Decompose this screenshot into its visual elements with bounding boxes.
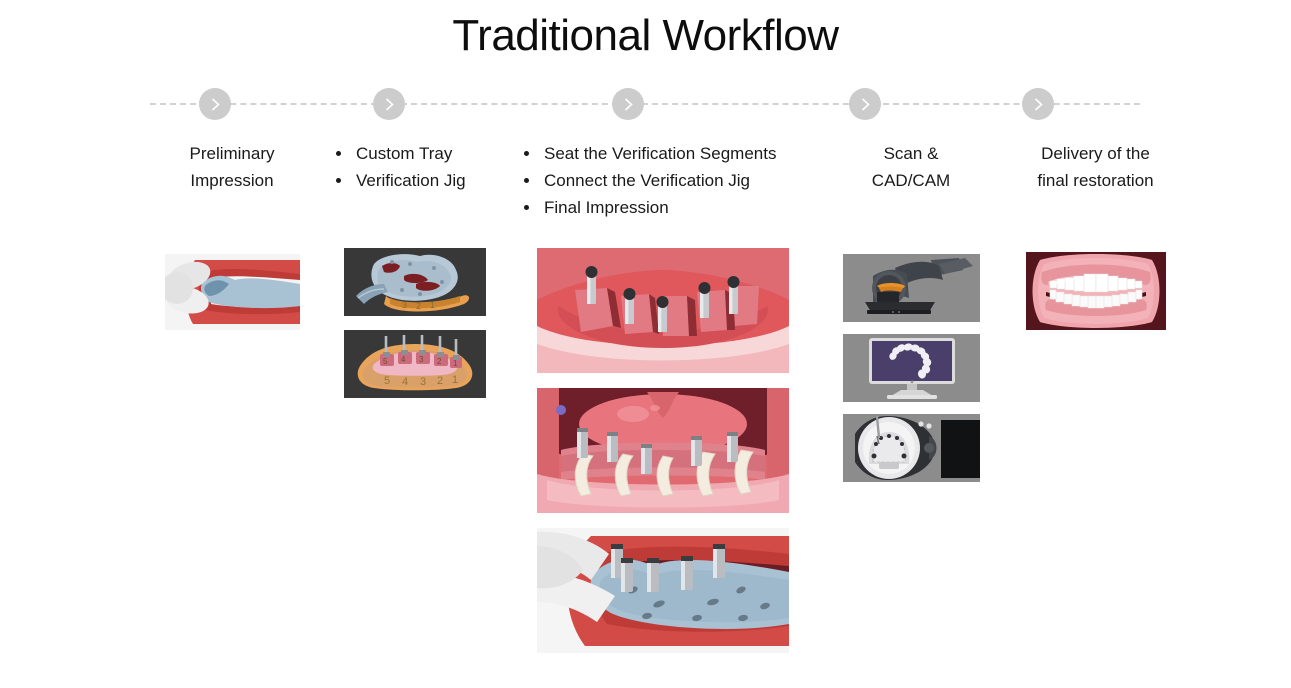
cad-monitor-illustration	[843, 334, 980, 402]
step-thumbnails	[1008, 194, 1183, 330]
chevron-right-icon	[1032, 97, 1045, 112]
svg-text:3: 3	[420, 376, 426, 388]
workflow-step-scan-cad-cam: Scan & CAD/CAM	[836, 140, 986, 482]
timeline-marker-5[interactable]	[1022, 88, 1054, 120]
final-impression-photo[interactable]	[537, 528, 789, 653]
step-label-line: Scan &	[884, 144, 939, 163]
timeline-marker-1[interactable]	[199, 88, 231, 120]
lab-scanner-illustration	[843, 254, 980, 322]
svg-text:5: 5	[383, 357, 388, 366]
step-label: Scan & CAD/CAM	[836, 140, 986, 194]
list-item: Custom Tray	[353, 140, 500, 167]
svg-text:3: 3	[419, 355, 424, 364]
svg-text:2: 2	[437, 357, 442, 366]
chevron-right-icon	[383, 97, 396, 112]
step-thumbnails	[836, 194, 986, 482]
workflow-columns: Preliminary Impression Cust	[0, 140, 1291, 653]
page-title: Traditional Workflow	[0, 0, 1291, 64]
step-label: Preliminary Impression	[142, 140, 322, 194]
cad-monitor-photo[interactable]	[843, 334, 980, 402]
step-bullet-list: Custom Tray Verification Jig	[330, 140, 500, 194]
custom-tray-photo[interactable]: 3 2 1	[344, 248, 486, 316]
list-item: Connect the Verification Jig	[541, 167, 808, 194]
preliminary-impression-photo[interactable]	[165, 254, 300, 330]
final-restoration-photo[interactable]	[1026, 252, 1166, 330]
timeline-marker-2[interactable]	[373, 88, 405, 120]
chevron-right-icon	[622, 97, 635, 112]
step-thumbnails	[142, 194, 322, 330]
svg-text:2: 2	[437, 375, 443, 387]
timeline-dashed-line	[150, 103, 1140, 105]
step-thumbnails	[518, 221, 808, 653]
cam-milling-photo[interactable]	[843, 414, 980, 482]
svg-text:2: 2	[416, 301, 421, 311]
step-bullet-list: Seat the Verification Segments Connect t…	[518, 140, 808, 221]
step-label-line: final restoration	[1037, 171, 1153, 190]
cam-milling-illustration	[843, 414, 980, 482]
verification-jig-photo[interactable]: 54 321 54 321	[344, 330, 486, 398]
workflow-step-verification-final-impression: Seat the Verification Segments Connect t…	[518, 140, 808, 653]
svg-text:3: 3	[402, 300, 407, 310]
workflow-step-preliminary-impression: Preliminary Impression	[142, 140, 322, 330]
lab-scanner-photo[interactable]	[843, 254, 980, 322]
seat-segments-illustration	[537, 248, 789, 373]
workflow-step-delivery: Delivery of the final restoration	[1008, 140, 1183, 330]
list-item: Final Impression	[541, 194, 808, 221]
chevron-right-icon	[209, 97, 222, 112]
svg-text:1: 1	[430, 300, 435, 310]
step-thumbnails: 3 2 1	[330, 194, 500, 398]
list-item: Seat the Verification Segments	[541, 140, 808, 167]
list-item: Verification Jig	[353, 167, 500, 194]
custom-tray-illustration: 3 2 1	[344, 248, 486, 316]
workflow-timeline	[0, 88, 1291, 120]
step-label-line: Preliminary	[189, 144, 274, 163]
step-label: Delivery of the final restoration	[1008, 140, 1183, 194]
svg-text:1: 1	[453, 359, 458, 368]
connect-verification-jig-photo[interactable]	[537, 388, 789, 513]
svg-text:4: 4	[402, 376, 408, 388]
verification-jig-illustration: 54 321 54 321	[344, 330, 486, 398]
connect-jig-illustration	[537, 388, 789, 513]
step-label-line: Impression	[190, 171, 273, 190]
svg-text:4: 4	[401, 355, 406, 364]
seat-verification-segments-photo[interactable]	[537, 248, 789, 373]
chevron-right-icon	[859, 97, 872, 112]
workflow-step-custom-tray: Custom Tray Verification Jig	[330, 140, 500, 398]
preliminary-impression-illustration	[165, 254, 300, 330]
final-restoration-illustration	[1026, 252, 1166, 330]
step-label-line: Delivery of the	[1041, 144, 1150, 163]
svg-text:5: 5	[384, 375, 390, 387]
final-impression-illustration	[537, 528, 789, 653]
step-label-line: CAD/CAM	[872, 171, 950, 190]
timeline-marker-3[interactable]	[612, 88, 644, 120]
svg-text:1: 1	[452, 374, 458, 386]
timeline-marker-4[interactable]	[849, 88, 881, 120]
